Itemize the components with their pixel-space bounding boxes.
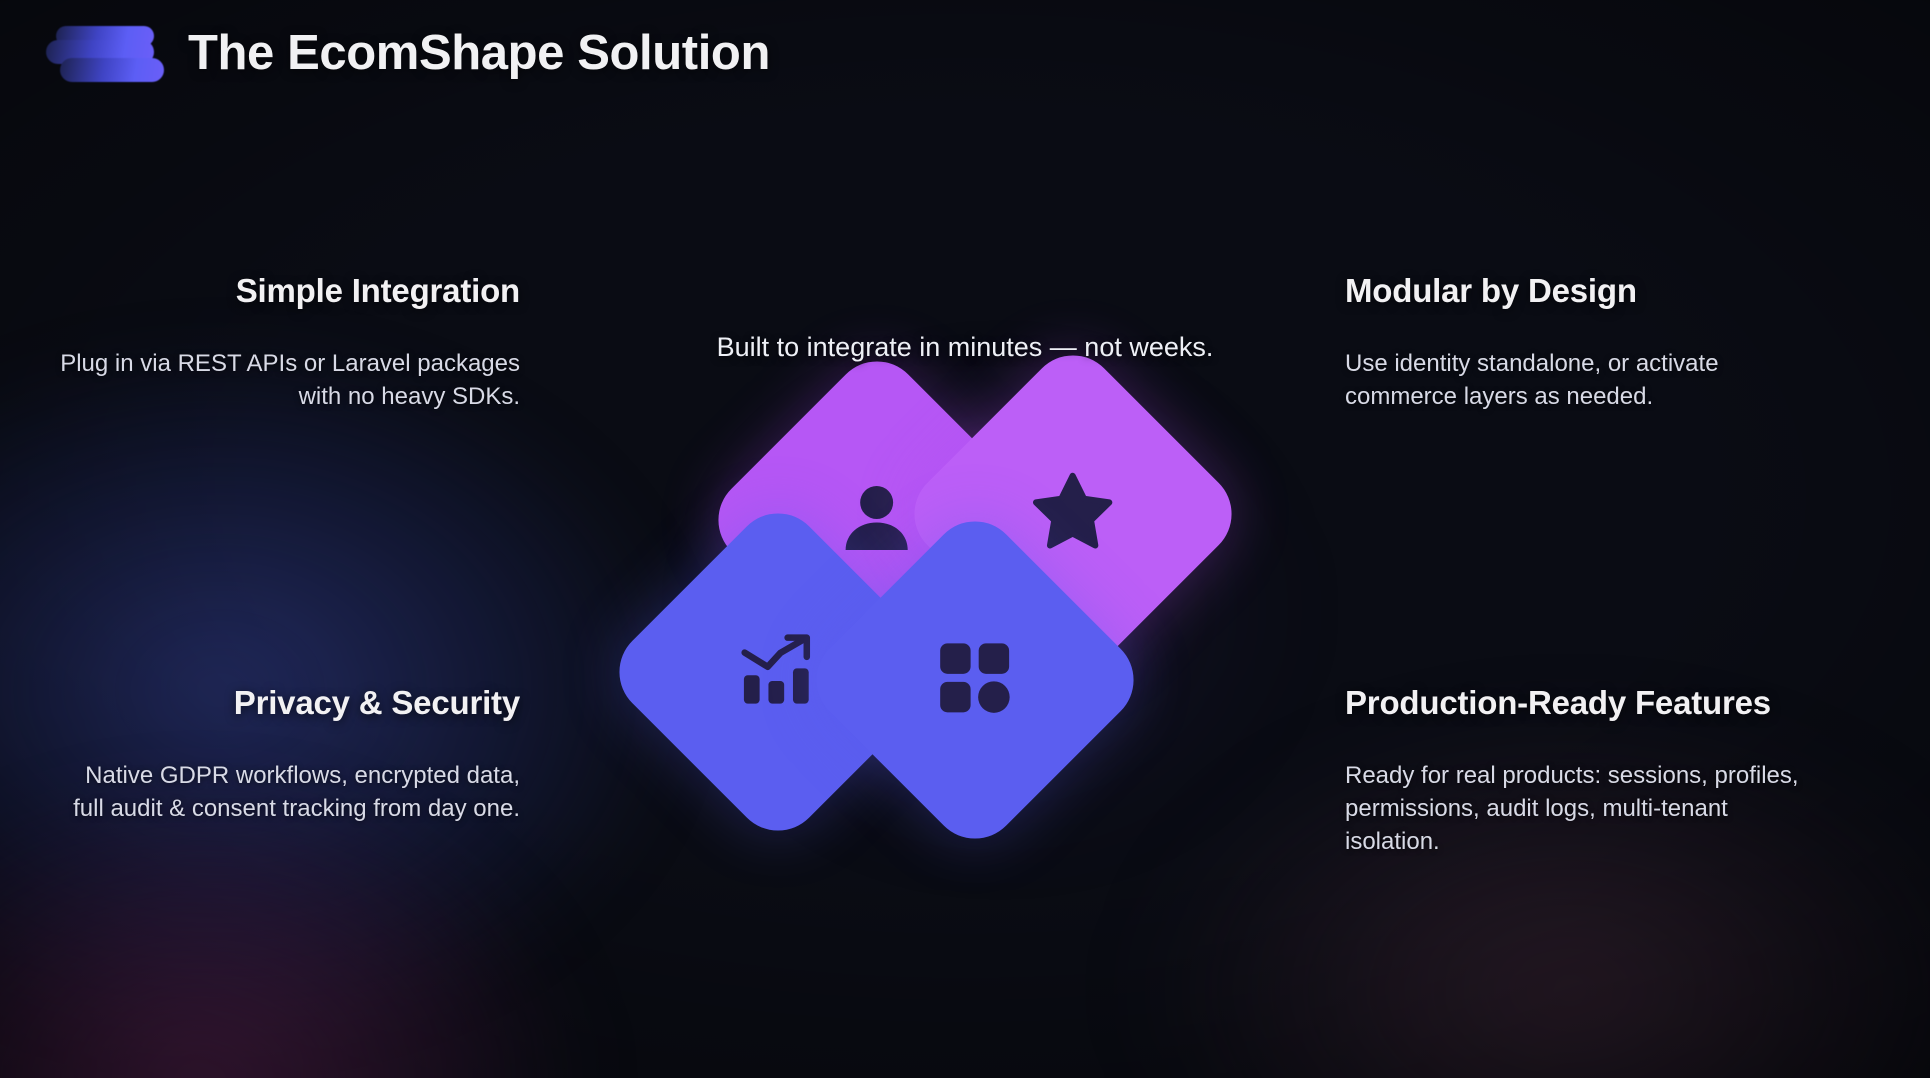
feature-description: Plug in via REST APIs or Laravel package… — [60, 348, 520, 414]
slide-canvas: The EcomShape Solution Built to integrat… — [0, 0, 1930, 1078]
feature-privacy-security: Privacy & Security Native GDPR workflows… — [60, 684, 520, 826]
star-icon — [1027, 466, 1119, 563]
feature-title: Simple Integration — [60, 272, 520, 310]
slide-header: The EcomShape Solution — [46, 22, 770, 84]
diamond-cluster — [595, 395, 1335, 815]
feature-title: Modular by Design — [1345, 272, 1805, 310]
feature-title: Production-Ready Features — [1345, 684, 1805, 722]
stacked-bars-logo-icon — [46, 22, 164, 84]
feature-description: Native GDPR workflows, encrypted data, f… — [60, 760, 520, 826]
feature-description: Ready for real products: sessions, profi… — [1345, 760, 1805, 859]
bar-chart-trend-icon — [732, 624, 824, 721]
grid-modules-icon — [931, 634, 1019, 727]
feature-description: Use identity standalone, or activate com… — [1345, 348, 1805, 414]
person-icon — [831, 472, 923, 569]
feature-simple-integration: Simple Integration Plug in via REST APIs… — [60, 272, 520, 414]
feature-title: Privacy & Security — [60, 684, 520, 722]
feature-production-ready: Production-Ready Features Ready for real… — [1345, 684, 1805, 859]
feature-modular-by-design: Modular by Design Use identity standalon… — [1345, 272, 1805, 414]
page-title: The EcomShape Solution — [188, 25, 770, 81]
logo-bar-bottom — [60, 58, 164, 82]
